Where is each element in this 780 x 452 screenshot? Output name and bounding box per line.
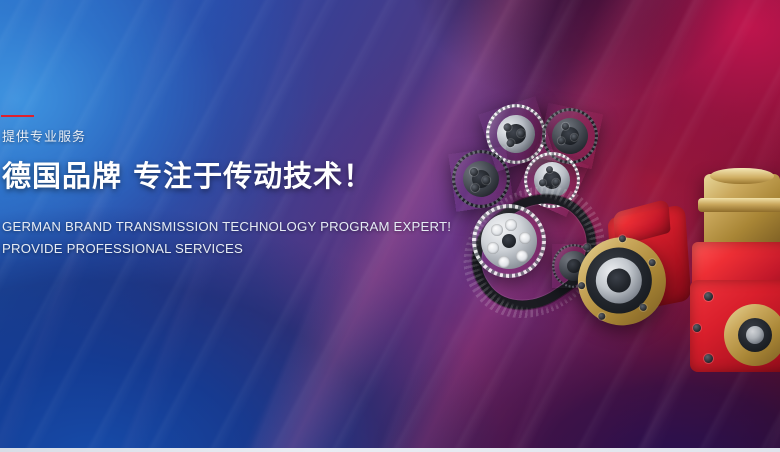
accent-rule-divider	[1, 115, 34, 117]
promo-banner: 提供专业服务 德国品牌 专注于传动技术！ GERMAN BRAND TRANSM…	[0, 0, 780, 452]
banner-kicker-text: 提供专业服务	[2, 131, 520, 144]
banner-headline-text: 德国品牌 专注于传动技术！	[2, 161, 520, 192]
banner-english-line-1: GERMAN BRAND TRANSMISSION TECHNOLOGY PRO…	[2, 216, 520, 237]
banner-copy-block: 提供专业服务 德国品牌 专注于传动技术！ GERMAN BRAND TRANSM…	[0, 115, 520, 259]
banner-english-line-2: PROVIDE PROFESSIONAL SERVICES	[2, 238, 520, 259]
bottom-edge-strip	[0, 448, 780, 452]
